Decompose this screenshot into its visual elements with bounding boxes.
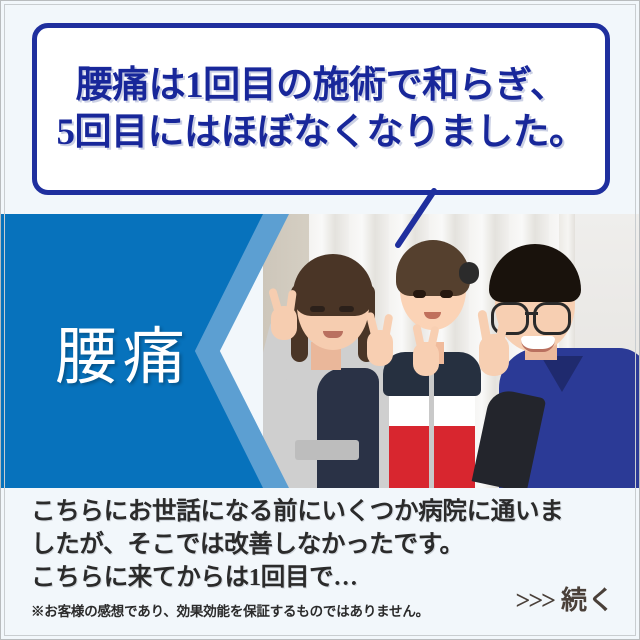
continue-link-label: 続く bbox=[561, 586, 615, 615]
person-child-eye-right bbox=[440, 290, 453, 298]
symptom-banner-label: 腰痛 bbox=[55, 214, 215, 488]
person-child-eye-left bbox=[413, 290, 426, 298]
legal-disclaimer: ※お客様の感想であり、効果効能を保証するものではありません。 bbox=[31, 600, 429, 620]
person-practitioner-smile bbox=[521, 336, 555, 352]
testimonial-line-1: こちらにお世話になる前にいくつか病院に通いま bbox=[31, 496, 611, 529]
person-mother-inner-top bbox=[317, 368, 379, 488]
person-child-bangs bbox=[400, 266, 466, 282]
media-section: 腰痛 bbox=[1, 214, 640, 488]
headline-line-2: 5回目にはほぼなくなりました。 bbox=[57, 109, 586, 156]
person-child-hair-tie bbox=[459, 262, 479, 284]
person-practitioner-glasses-bridge bbox=[525, 312, 538, 315]
headline-line-1: 腰痛は1回目の施術で和らぎ、 bbox=[76, 62, 567, 109]
person-practitioner-hand bbox=[479, 334, 509, 376]
person-practitioner-glasses-right bbox=[533, 302, 571, 335]
person-mother-eye-right bbox=[339, 306, 354, 312]
speech-bubble-tail-icon bbox=[392, 189, 436, 249]
person-child-jacket-zipper bbox=[429, 360, 434, 488]
testimonial-ad-card: 腰痛は1回目の施術で和らぎ、 5回目にはほぼなくなりました。 bbox=[0, 0, 640, 640]
continue-link[interactable]: >>>続く bbox=[516, 580, 615, 617]
person-mother-eye-left bbox=[310, 306, 325, 312]
speech-bubble: 腰痛は1回目の施術で和らぎ、 5回目にはほぼなくなりました。 bbox=[32, 23, 610, 195]
person-mother-hoodie-logo bbox=[295, 440, 359, 460]
person-mother-hand bbox=[271, 306, 297, 340]
customer-photo bbox=[263, 214, 640, 488]
headline-section: 腰痛は1回目の施術で和らぎ、 5回目にはほぼなくなりました。 bbox=[1, 1, 640, 214]
person-child-hand-right bbox=[413, 342, 439, 376]
testimonial-section: こちらにお世話になる前にいくつか病院に通いま したが、そこでは改善しなかったです… bbox=[1, 488, 640, 640]
testimonial-line-2: したが、そこでは改善しなかったです。 bbox=[31, 529, 611, 562]
chevron-right-icon: >>> bbox=[516, 586, 554, 615]
person-child-hand-left bbox=[367, 330, 393, 366]
